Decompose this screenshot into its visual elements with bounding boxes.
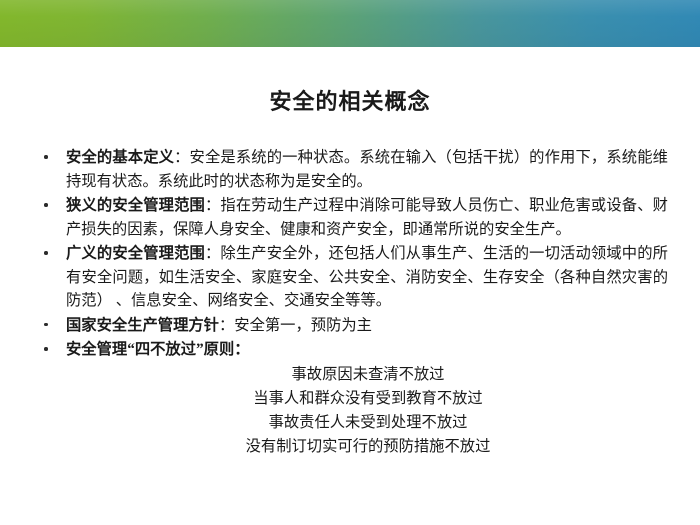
bullet-dot-icon: [44, 203, 48, 207]
bullet-lead-label: 安全管理“四不放过”原则：: [66, 341, 250, 358]
bullet-dot-icon: [44, 347, 48, 351]
bullet-item-four-no-pass-principle: 安全管理“四不放过”原则：: [34, 338, 668, 362]
slide-body: 安全的基本定义：安全是系统的一种状态。系统在输入（包括干扰）的作用下，系统能维持…: [34, 146, 668, 459]
subline-list: 事故原因未查清不放过 当事人和群众没有受到教育不放过 事故责任人未受到处理不放过…: [32, 363, 700, 459]
bullet-list: 安全的基本定义：安全是系统的一种状态。系统在输入（包括干扰）的作用下，系统能维持…: [34, 146, 668, 362]
bullet-item-broad-scope: 广义的安全管理范围：除生产安全外，还包括人们从事生产、生活的一切活动领域中的所有…: [34, 242, 668, 313]
header-gradient-band: [0, 0, 700, 47]
bullet-lead-label: 国家安全生产管理方针: [66, 317, 219, 334]
bullet-item-national-policy: 国家安全生产管理方针：安全第一，预防为主: [34, 314, 668, 338]
slide-title: 安全的相关概念: [0, 84, 700, 116]
subline-item: 没有制订切实可行的预防措施不放过: [32, 435, 700, 459]
bullet-item-narrow-scope: 狭义的安全管理范围：指在劳动生产过程中消除可能导致人员伤亡、职业危害或设备、财产…: [34, 194, 668, 241]
bullet-body-text: ：安全第一，预防为主: [219, 317, 372, 334]
bullet-lead-label: 狭义的安全管理范围: [66, 197, 205, 214]
bullet-lead-label: 安全的基本定义: [66, 149, 174, 166]
subline-item: 事故责任人未受到处理不放过: [32, 411, 700, 435]
subline-item: 事故原因未查清不放过: [32, 363, 700, 387]
bullet-dot-icon: [44, 155, 48, 159]
subline-item: 当事人和群众没有受到教育不放过: [32, 387, 700, 411]
bullet-lead-label: 广义的安全管理范围: [66, 245, 205, 262]
bullet-dot-icon: [44, 251, 48, 255]
header-band-shading: [0, 0, 700, 47]
bullet-dot-icon: [44, 323, 48, 327]
bullet-item-safety-definition: 安全的基本定义：安全是系统的一种状态。系统在输入（包括干扰）的作用下，系统能维持…: [34, 146, 668, 193]
presentation-slide: 安全的相关概念 安全的基本定义：安全是系统的一种状态。系统在输入（包括干扰）的作…: [0, 0, 700, 525]
